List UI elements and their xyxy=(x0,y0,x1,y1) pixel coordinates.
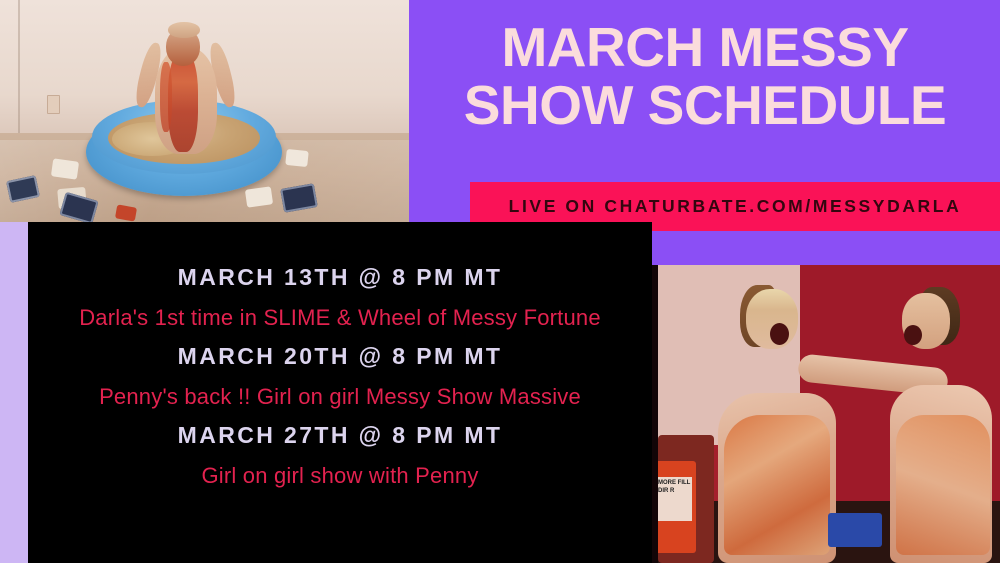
purple-spacer-bar xyxy=(652,231,1000,265)
poster-canvas: MARCH MESSY SHOW SCHEDULE LIVE ON CHATUR… xyxy=(0,0,1000,563)
top-left-photo xyxy=(0,0,409,223)
photo-wall-outlet xyxy=(47,95,60,114)
woman-one-mess xyxy=(724,415,830,555)
floor-item xyxy=(51,158,79,179)
bucket-label-text: MORE FILL DIR R xyxy=(658,479,692,495)
schedule-entry: MARCH 13TH @ 8 PM MT Darla's 1st time in… xyxy=(28,252,652,331)
title-line-2: SHOW SCHEDULE xyxy=(410,76,1000,134)
schedule-date: MARCH 27TH @ 8 PM MT xyxy=(28,422,652,449)
woman-one-mouth xyxy=(770,323,789,345)
photo-blue-object xyxy=(828,513,882,547)
schedule-date: MARCH 20TH @ 8 PM MT xyxy=(28,343,652,370)
floor-item xyxy=(285,149,309,167)
left-lavender-strip xyxy=(0,222,28,563)
poster-title: MARCH MESSY SHOW SCHEDULE xyxy=(410,18,1000,134)
slime-drip-secondary xyxy=(160,62,172,132)
floor-item xyxy=(245,186,273,207)
title-line-1: MARCH MESSY xyxy=(410,18,1000,76)
woman-two-mess xyxy=(896,415,990,555)
schedule-date: MARCH 13TH @ 8 PM MT xyxy=(28,264,652,291)
live-url-text: LIVE ON CHATURBATE.COM/MESSYDARLA xyxy=(509,196,962,217)
schedule-entry: MARCH 27TH @ 8 PM MT Girl on girl show w… xyxy=(28,410,652,489)
schedule-panel: MARCH 13TH @ 8 PM MT Darla's 1st time in… xyxy=(28,222,652,563)
schedule-description: Girl on girl show with Penny xyxy=(28,463,652,489)
photo-left-edge-shadow xyxy=(652,265,658,563)
slime-drip-main xyxy=(168,52,198,152)
person-hands xyxy=(168,22,200,38)
schedule-description: Darla's 1st time in SLIME & Wheel of Mes… xyxy=(28,305,652,331)
woman-two-mouth xyxy=(904,325,922,345)
bottom-right-photo: MORE FILL DIR R xyxy=(652,265,1000,563)
schedule-description: Penny's back !! Girl on girl Messy Show … xyxy=(28,384,652,410)
photo-wall-corner xyxy=(18,0,20,140)
schedule-entry: MARCH 20TH @ 8 PM MT Penny's back !! Gir… xyxy=(28,331,652,410)
